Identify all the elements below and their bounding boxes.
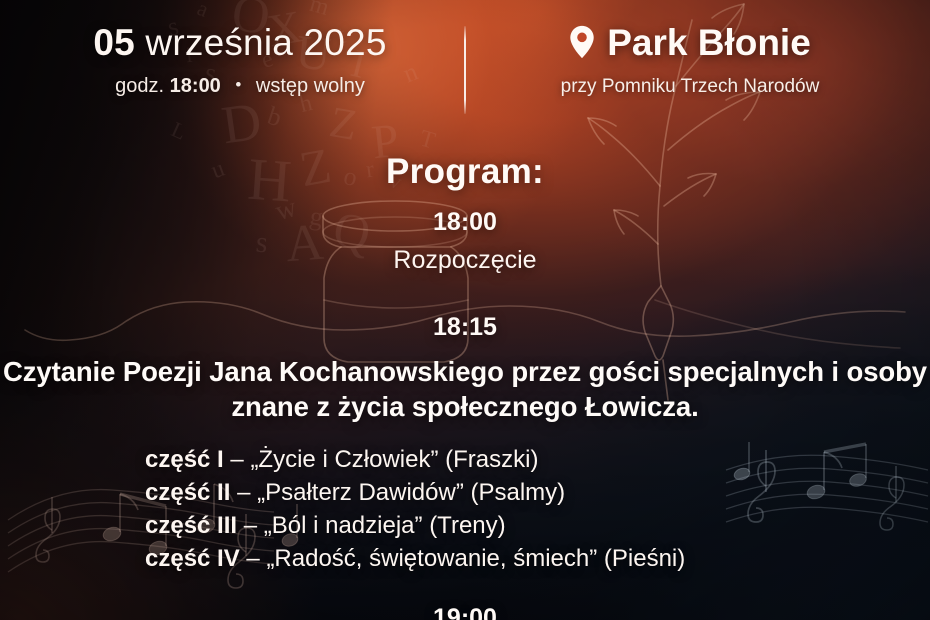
event-start-time: 18:00 [170, 75, 221, 97]
part-dash: – [230, 446, 243, 473]
part-title: „Psałterz Dawidów” [257, 479, 464, 506]
event-date: 05 września 2025 [34, 22, 446, 64]
part-title: „Radość, świętowanie, śmiech” [266, 545, 597, 572]
part-category: (Fraszki) [445, 446, 538, 473]
part-label: część I [145, 446, 224, 473]
location-name: Park Błonie [607, 22, 811, 64]
part-dash: – [244, 512, 257, 539]
program-slot-time: 18:00 [0, 208, 930, 237]
map-pin-icon [569, 25, 595, 59]
program-part-item: część I – „Życie i Człowiek” (Fraszki) [145, 444, 785, 477]
program-slot-time: 18:15 [0, 313, 930, 342]
part-label: część III [145, 512, 237, 539]
part-dash: – [237, 479, 250, 506]
header-date-block: 05 września 2025 godz. 18:00 • wstęp wol… [34, 22, 464, 98]
program-slot: 18:15 Czytanie Poezji Jana Kochanowskieg… [0, 313, 930, 424]
next-program-slot-time-clipped: 19:00 [0, 604, 930, 620]
part-category: (Treny) [429, 512, 505, 539]
time-prefix-label: godz. [115, 75, 164, 97]
part-label: część II [145, 479, 230, 506]
part-dash: – [246, 545, 259, 572]
program-part-item: część II – „Psałterz Dawidów” (Psalmy) [145, 477, 785, 510]
program-part-item: część III – „Ból i nadzieja” (Treny) [145, 510, 785, 543]
part-title: „Życie i Człowiek” [250, 446, 438, 473]
admission-label: wstęp wolny [256, 75, 365, 97]
location-detail: przy Pomniku Trzech Narodów [484, 76, 896, 98]
part-label: część IV [145, 545, 240, 572]
part-title: „Ból i nadzieja” [264, 512, 423, 539]
bullet-separator-icon: • [235, 75, 241, 95]
program-heading: Program: [0, 152, 930, 192]
event-time-admission: godz. 18:00 • wstęp wolny [34, 75, 446, 98]
program-slot: 18:00 Rozpoczęcie [0, 208, 930, 275]
program-parts-list: część I – „Życie i Człowiek” (Fraszki) c… [0, 444, 930, 576]
event-date-rest: września 2025 [145, 22, 386, 63]
part-category: (Pieśni) [604, 545, 685, 572]
event-location: Park Błonie [484, 22, 896, 64]
program-slot-description: Rozpoczęcie [0, 246, 930, 275]
header-location-block: Park Błonie przy Pomniku Trzech Narodów [466, 22, 896, 98]
program-slot-description: Czytanie Poezji Jana Kochanowskiego prze… [0, 354, 930, 424]
event-poster: s a O X m i s e U t I D b h Z P H u Z o … [0, 0, 930, 620]
program-part-item: część IV – „Radość, świętowanie, śmiech”… [145, 543, 785, 576]
event-date-day: 05 [93, 22, 135, 63]
poster-header: 05 września 2025 godz. 18:00 • wstęp wol… [0, 22, 930, 118]
part-category: (Psalmy) [471, 479, 566, 506]
